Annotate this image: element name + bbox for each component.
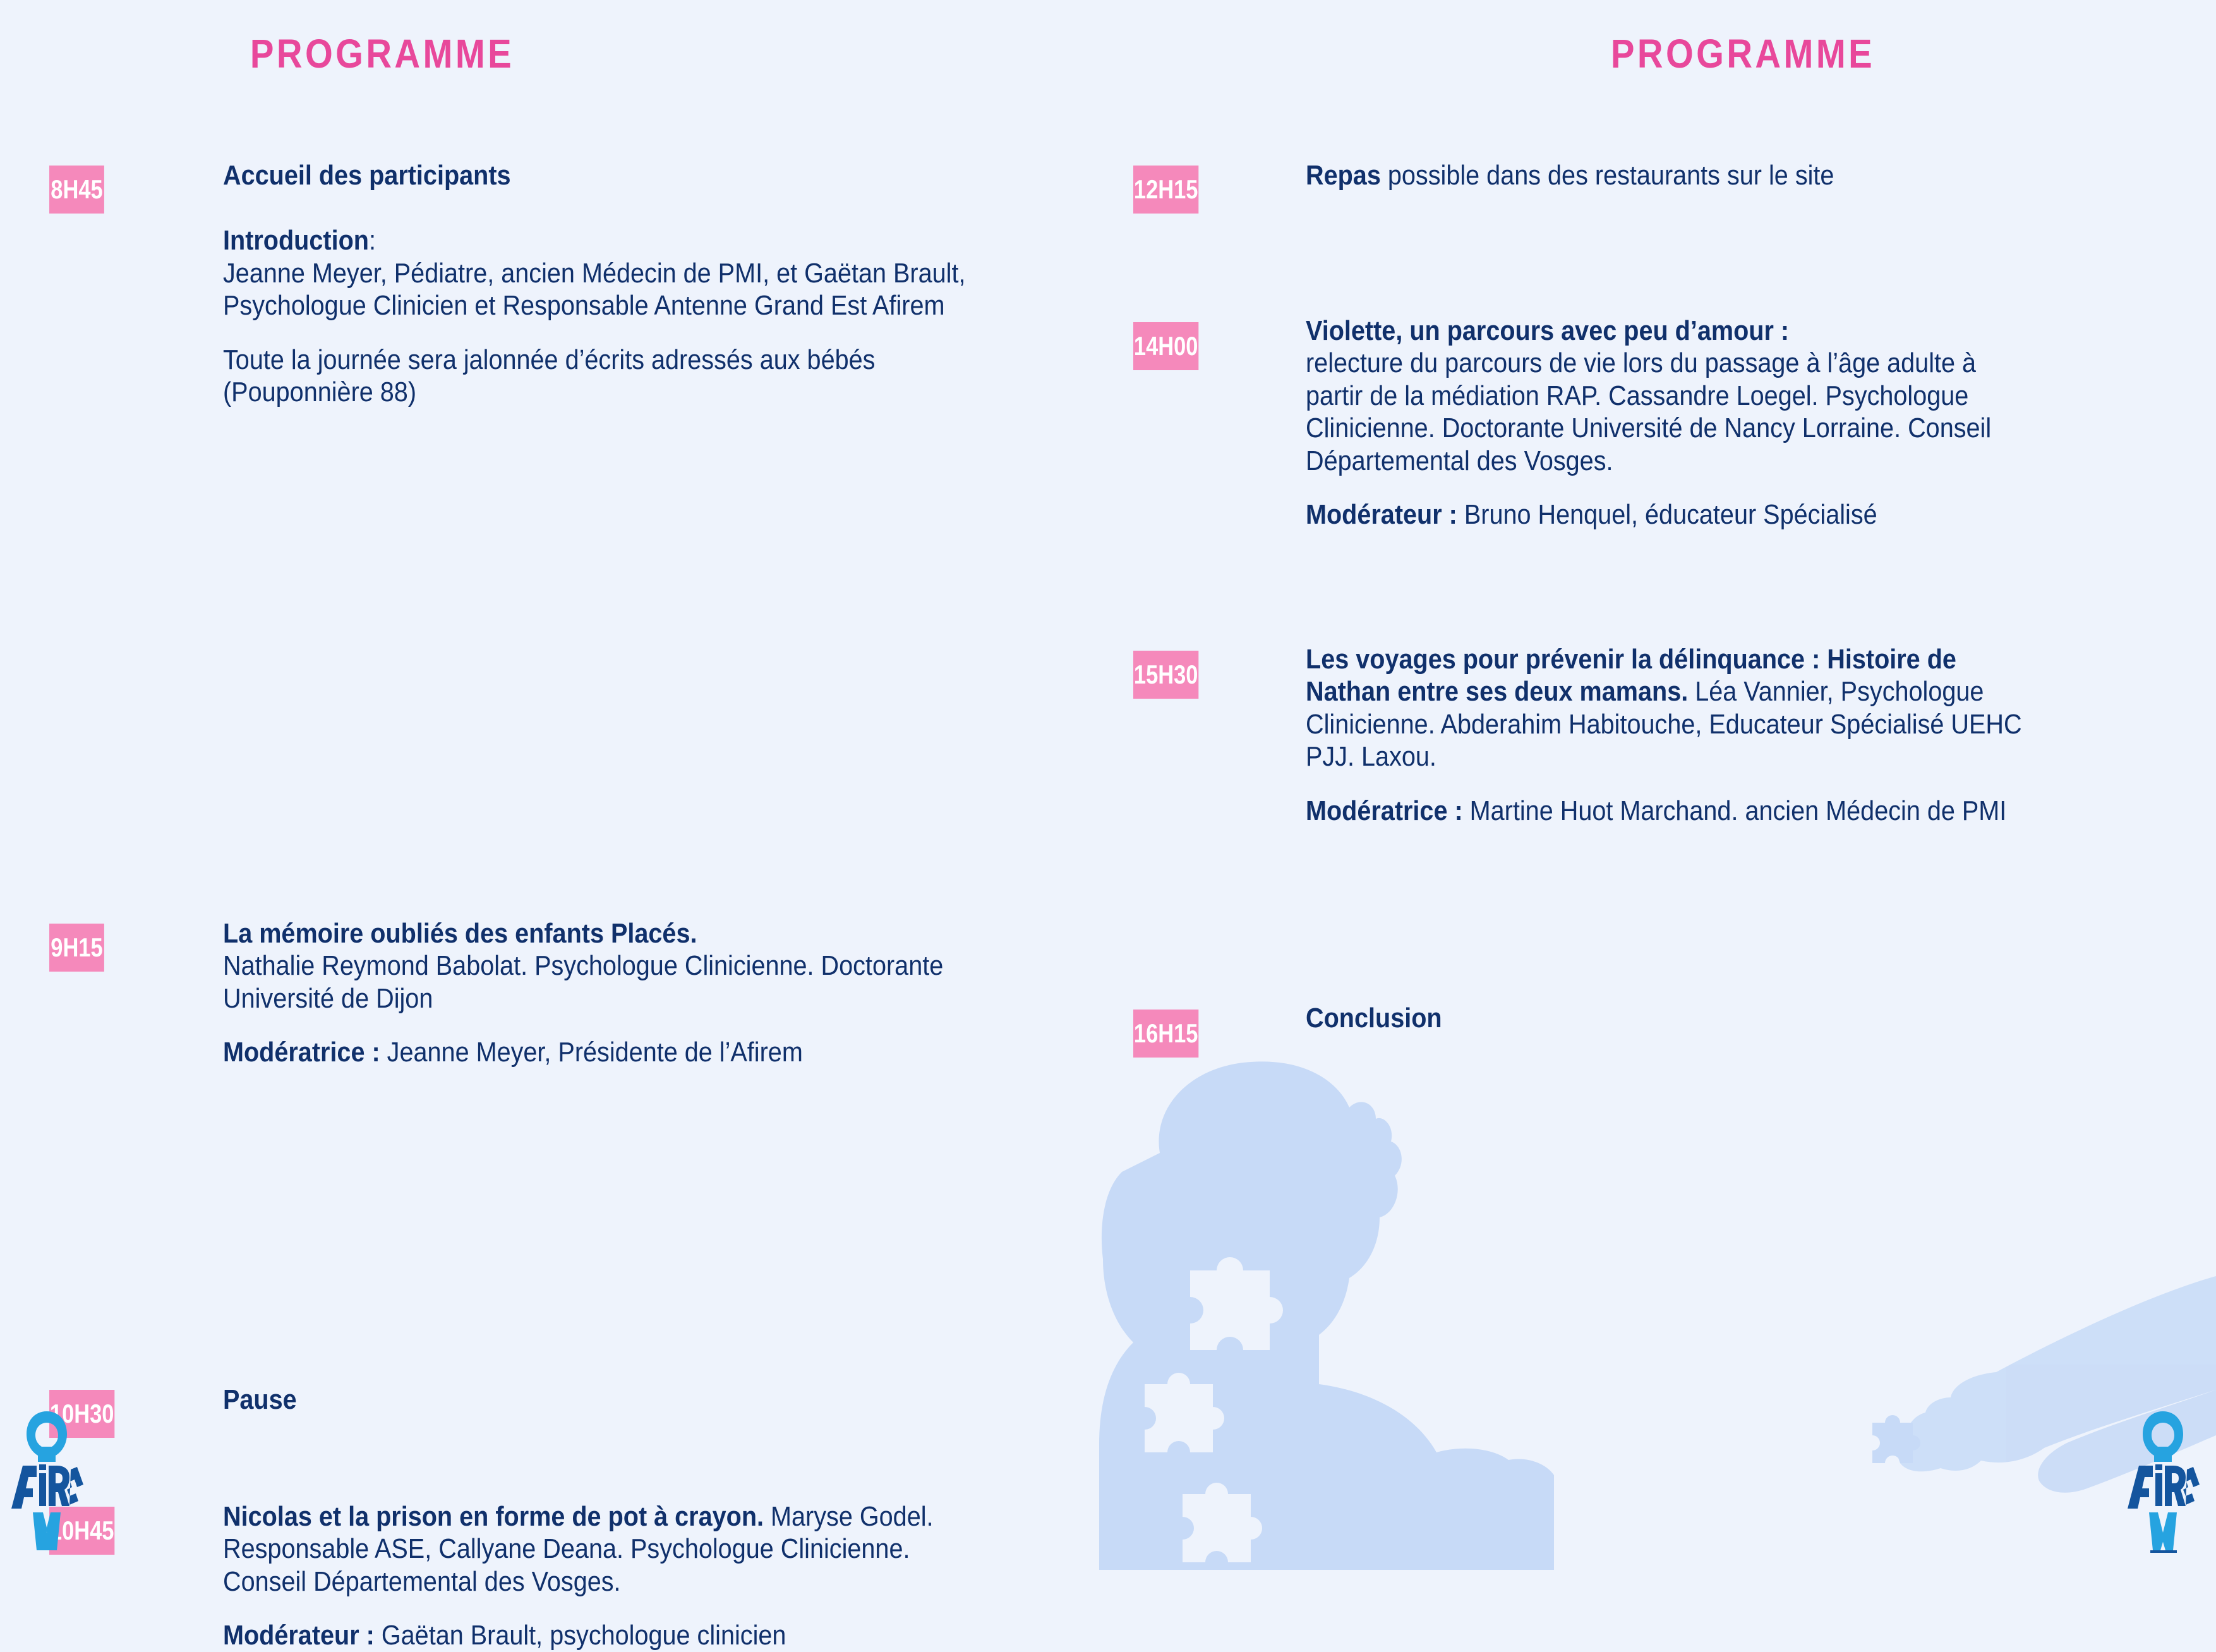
heading-accueil: Accueil des participants [223, 160, 511, 191]
repas-detail: possible dans des restaurants sur le sit… [1381, 160, 1834, 191]
afirem-logo-right [2125, 1408, 2201, 1553]
page-title-right: PROGRAMME [1373, 30, 2112, 77]
label-moderateur-1400: Modérateur : [1306, 499, 1457, 530]
time-badge-0915: 9H15 [49, 924, 104, 972]
programme-page: PROGRAMME 8H45 Introduction Accueil des … [0, 0, 2216, 1567]
schedule-item-0915[interactable]: 9H15 La mémoire oubliés des enfants Plac… [0, 531, 1108, 758]
schedule-item-1045-body: Nicolas et la prison en forme de pot à c… [223, 1500, 939, 1652]
label-moderatrice-1530: Modératrice : [1306, 795, 1463, 826]
title-conclusion: Conclusion [1306, 1003, 1442, 1034]
time-badge-0845: 8H45 [49, 166, 104, 214]
afirem-logo-left [9, 1408, 85, 1553]
violette-detail: relecture du parcours de vie lors du pas… [1306, 347, 1991, 476]
schedule-list-left: 8H45 Introduction Accueil des participan… [0, 152, 1108, 758]
schedule-item-1400-body: Violette, un parcours avec peu d’amour :… [1306, 315, 2039, 531]
column-right: PROGRAMME 12H15 Repas possible dans des … [1108, 0, 2216, 1567]
time-badge-1400: 14H00 [1133, 322, 1198, 370]
time-badge-1615: 16H15 [1133, 1010, 1198, 1058]
moderateur-1400: Bruno Henquel, éducateur Spécialisé [1457, 499, 1877, 530]
schedule-item-1030-body: Pause [223, 1384, 973, 1416]
page-title-left: PROGRAMME [13, 30, 752, 77]
introduction-colon: : [369, 225, 376, 256]
moderatrice-1530: Martine Huot Marchand. ancien Médecin de… [1463, 795, 2007, 826]
label-moderateur-1045: Modérateur : [223, 1620, 375, 1651]
speaker-nathalie-babolat: Nathalie Reymond Babolat. Psychologue Cl… [223, 950, 943, 1013]
moderateur-1045: Gaëtan Brault, psychologue clinicien [375, 1620, 786, 1651]
time-badge-1215: 12H15 [1133, 166, 1198, 214]
title-violette: Violette, un parcours avec peu d’amour : [1306, 315, 1789, 346]
moderatrice-0915: Jeanne Meyer, Présidente de l’Afirem [380, 1037, 803, 1068]
title-nicolas-prison: Nicolas et la prison en forme de pot à c… [223, 1501, 764, 1532]
title-pause: Pause [223, 1384, 297, 1415]
schedule-item-0845[interactable]: 8H45 Introduction Accueil des participan… [0, 152, 1108, 531]
column-left: PROGRAMME 8H45 Introduction Accueil des … [0, 0, 1108, 1567]
ecrits-note: Toute la journée sera jalonnée d’écrits … [223, 344, 875, 407]
title-memoire-oubliee: La mémoire oubliés des enfants Placés. [223, 918, 697, 949]
schedule-item-0915-body: La mémoire oubliés des enfants Placés. N… [223, 917, 973, 1069]
time-badge-1530: 15H30 [1133, 651, 1198, 699]
schedule-item-1615-body: Conclusion [1306, 1002, 2045, 1034]
schedule-item-0845-body: Introduction Accueil des participants In… [223, 159, 973, 409]
schedule-item-1530-body: Les voyages pour prévenir la délinquance… [1306, 643, 2045, 827]
introduction-speakers: Jeanne Meyer, Pédiatre, ancien Médecin d… [223, 258, 965, 321]
heading-introduction: Introduction [223, 225, 369, 256]
programme-columns: PROGRAMME 8H45 Introduction Accueil des … [0, 0, 2216, 1567]
label-moderatrice-0915: Modératrice : [223, 1037, 380, 1068]
title-repas: Repas [1306, 160, 1381, 191]
schedule-item-1215-body: Repas possible dans des restaurants sur … [1306, 159, 2045, 191]
